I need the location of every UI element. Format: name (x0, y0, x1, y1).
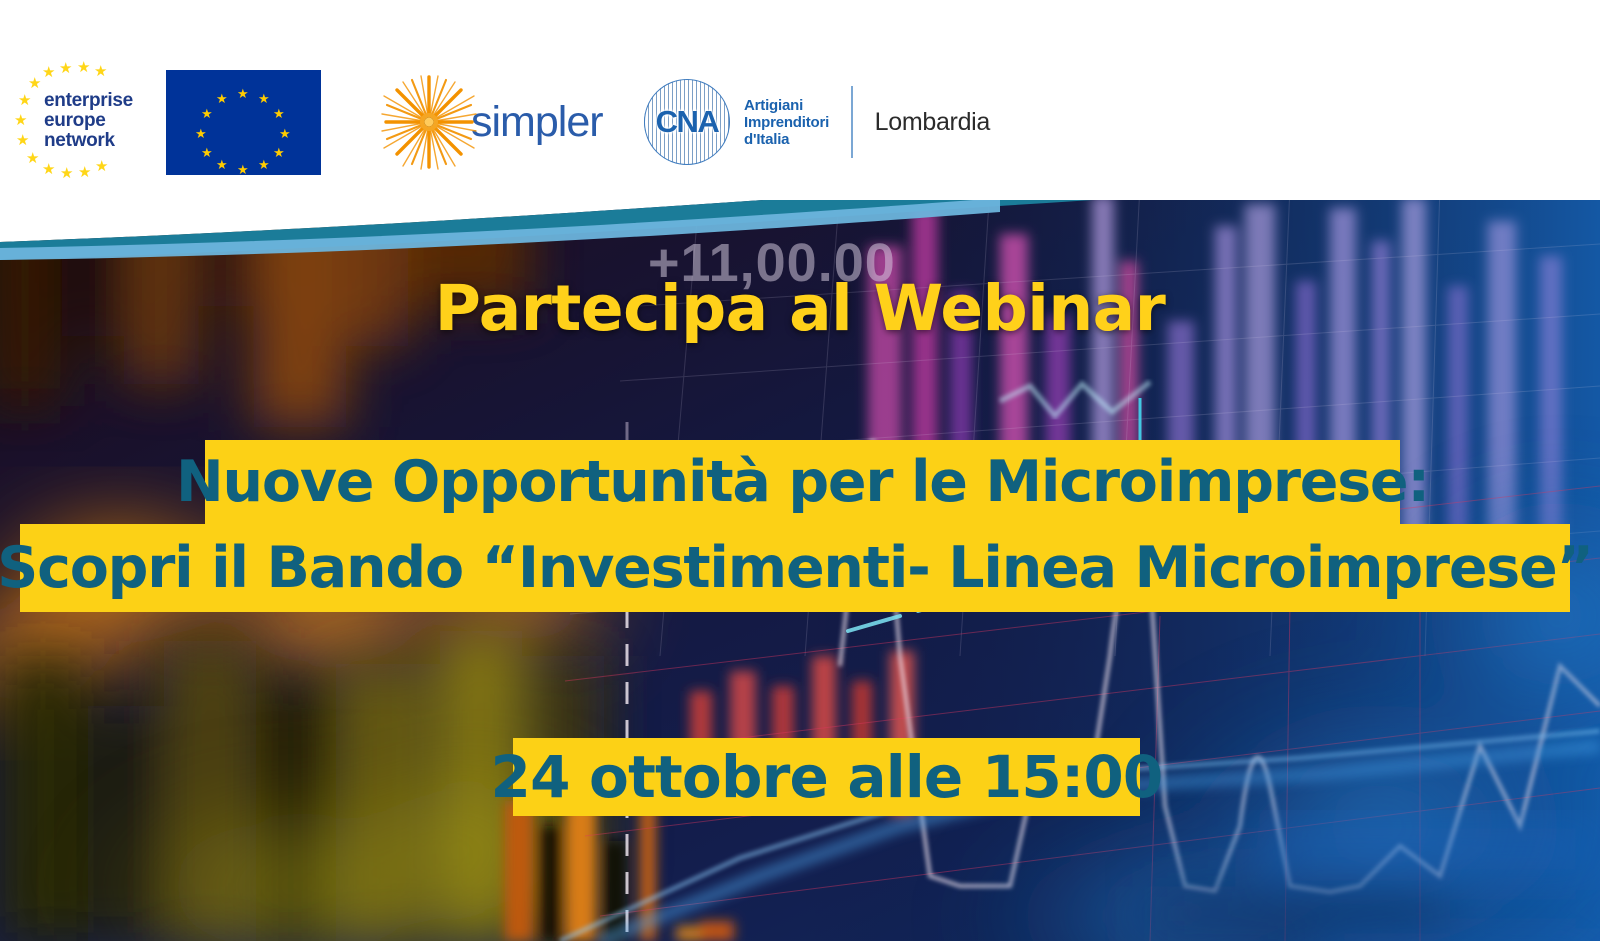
title-banner-line-1: Nuove Opportunità per le Microimprese: (205, 440, 1400, 524)
cna-tagline: Artigiani Imprenditori d'Italia (744, 97, 829, 148)
european-union-flag: ★ ★ ★ ★ ★ ★ ★ ★ ★ ★ ★ ★ (166, 70, 321, 175)
cna-tagline-1: Artigiani (744, 97, 829, 114)
simpler-starburst-icon (381, 74, 477, 170)
een-line-3: network (44, 131, 154, 151)
logo-header: ★ ★ ★ ★ ★ ★ ★ ★ ★ ★ ★ ★ ★ enterprise eur… (0, 0, 1600, 200)
een-line-1: enterprise (44, 91, 154, 111)
simpler-wordmark: simpler (471, 101, 603, 144)
cna-lombardia-logo: CNA Artigiani Imprenditori d'Italia Lomb… (644, 70, 990, 175)
cna-acronym: CNA (644, 104, 730, 140)
title-banner-line-2: Scopri il Bando “Investimenti- Linea Mic… (20, 524, 1570, 612)
webinar-kicker: Partecipa al Webinar (0, 272, 1600, 345)
een-line-2: europe (44, 111, 154, 131)
cna-tagline-3: d'Italia (744, 131, 829, 148)
cna-region-label: Lombardia (875, 108, 990, 137)
een-wordmark: enterprise europe network (44, 91, 154, 151)
poster-canvas: +11,00.00 ★ ★ ★ ★ ★ ★ ★ ★ ★ ★ ★ ★ (0, 0, 1600, 941)
simpler-logo: simpler (381, 70, 586, 175)
cna-divider (851, 86, 853, 158)
datetime-banner: 24 ottobre alle 15:00 (513, 738, 1140, 816)
cna-tagline-2: Imprenditori (744, 114, 829, 131)
enterprise-europe-network-logo: ★ ★ ★ ★ ★ ★ ★ ★ ★ ★ ★ ★ ★ enterprise eur… (14, 67, 154, 177)
logo-row: ★ ★ ★ ★ ★ ★ ★ ★ ★ ★ ★ ★ ★ enterprise eur… (0, 62, 1000, 182)
cna-emblem-icon: CNA (644, 79, 730, 165)
